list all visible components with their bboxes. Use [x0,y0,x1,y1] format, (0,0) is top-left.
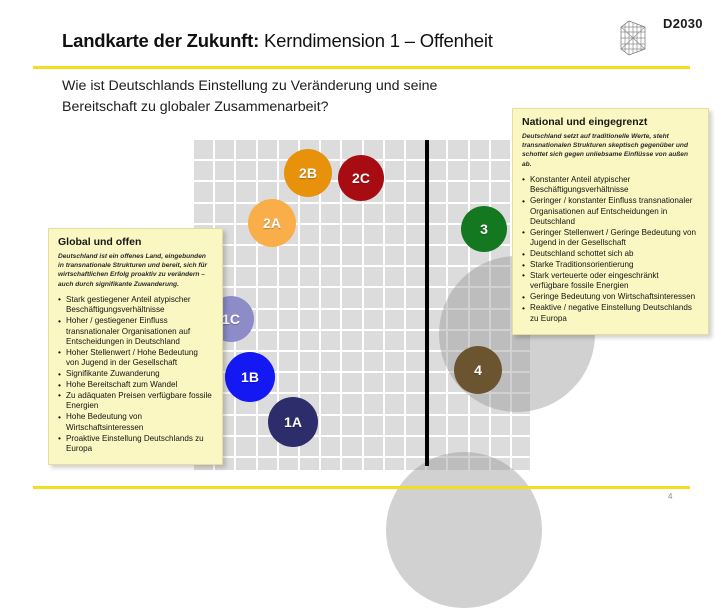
brand-logo: D2030 [613,8,718,58]
chart-point-label: 2A [263,215,281,231]
logo-text: D2030 [663,16,703,31]
callout-bullet: Proaktive Einstellung Deutschlands zu Eu… [58,434,213,455]
page-number: 4 [668,492,672,501]
callout-left-lede: Deutschland ist ein offenes Land, eingeb… [58,252,213,289]
gridline-vertical [404,138,406,470]
page-title-bold: Landkarte der Zukunft: [62,30,259,51]
chart-point-label: 1C [222,311,240,327]
callout-global-und-offen: Global und offen Deutschland ist ein off… [48,228,223,465]
callout-bullet: Starke Traditionsorientierung [522,260,699,270]
callout-bullet: Stark gestiegener Anteil atypischer Besc… [58,295,213,316]
chart-point-label: 2C [352,170,370,186]
callout-bullet: Geringer / konstanter Einfluss transnati… [522,196,699,227]
callout-bullet: Hohe Bereitschaft zum Wandel [58,380,213,390]
gridline-horizontal [192,138,530,140]
gridline-vertical [256,138,258,470]
slide-canvas: Landkarte der Zukunft: Kerndimension 1 –… [0,0,723,510]
chart-point-4[interactable]: 4 [454,346,502,394]
callout-right-title: National und eingegrenzt [522,116,699,128]
callout-bullet: Reaktive / negative Einstellung Deutschl… [522,303,699,324]
callout-bullet: Hohe Bedeutung von Wirtschaftsinteressen [58,412,213,433]
chart-point-1b[interactable]: 1B [225,352,275,402]
gridline-vertical [383,138,385,470]
callout-bullet: Geringer Stellenwert / Geringe Bedeutung… [522,228,699,249]
footer-divider-rule [33,486,690,489]
callout-bullet: Hoher Stellenwert / Hohe Bedeutung von J… [58,348,213,369]
chart-point-2b[interactable]: 2B [284,149,332,197]
cluster-mixed [386,452,542,608]
chart-point-3[interactable]: 3 [461,206,507,252]
chart-point-label: 2B [299,165,317,181]
chart-point-2a[interactable]: 2A [248,199,296,247]
chart-point-label: 3 [480,221,488,237]
callout-left-bullets: Stark gestiegener Anteil atypischer Besc… [58,295,213,455]
callout-bullet: Deutschland schottet sich ab [522,249,699,259]
subtitle-question: Wie ist Deutschlands Einstellung zu Verä… [62,76,502,118]
chart-point-label: 4 [474,362,482,378]
gridline-horizontal [192,202,530,204]
callout-bullet: Geringe Bedeutung von Wirtschaftsinteres… [522,292,699,302]
chart-point-label: 1B [241,369,259,385]
gridline-horizontal [192,414,530,416]
gridline-horizontal [192,435,530,437]
callout-bullet: Konstanter Anteil atypischer Beschäftigu… [522,175,699,196]
callout-bullet: Stark verteuerte oder eingeschränkt verf… [522,271,699,292]
chart-point-label: 1A [284,414,302,430]
page-title: Landkarte der Zukunft: Kerndimension 1 –… [62,30,493,52]
chart-point-2c[interactable]: 2C [338,155,384,201]
chart-plot-area: 2B2C2A31C1B1A4 [192,138,530,470]
chart-point-1a[interactable]: 1A [268,397,318,447]
page-title-rest: Kerndimension 1 – Offenheit [259,30,493,51]
callout-right-bullets: Konstanter Anteil atypischer Beschäftigu… [522,175,699,324]
callout-bullet: Signifikante Zuwanderung [58,369,213,379]
callout-left-title: Global und offen [58,236,213,248]
callout-bullet: Hoher / gestiegener Einfluss transnation… [58,316,213,347]
chart-vertical-divider [425,140,429,466]
wireframe-cube-icon [617,18,657,58]
callout-right-lede: Deutschland setzt auf traditionelle Wert… [522,132,699,169]
header-divider-rule [33,66,690,69]
callout-bullet: Zu adäquaten Preisen verfügbare fossile … [58,391,213,412]
callout-national-und-eingegrenzt: National und eingegrenzt Deutschland set… [512,108,709,335]
